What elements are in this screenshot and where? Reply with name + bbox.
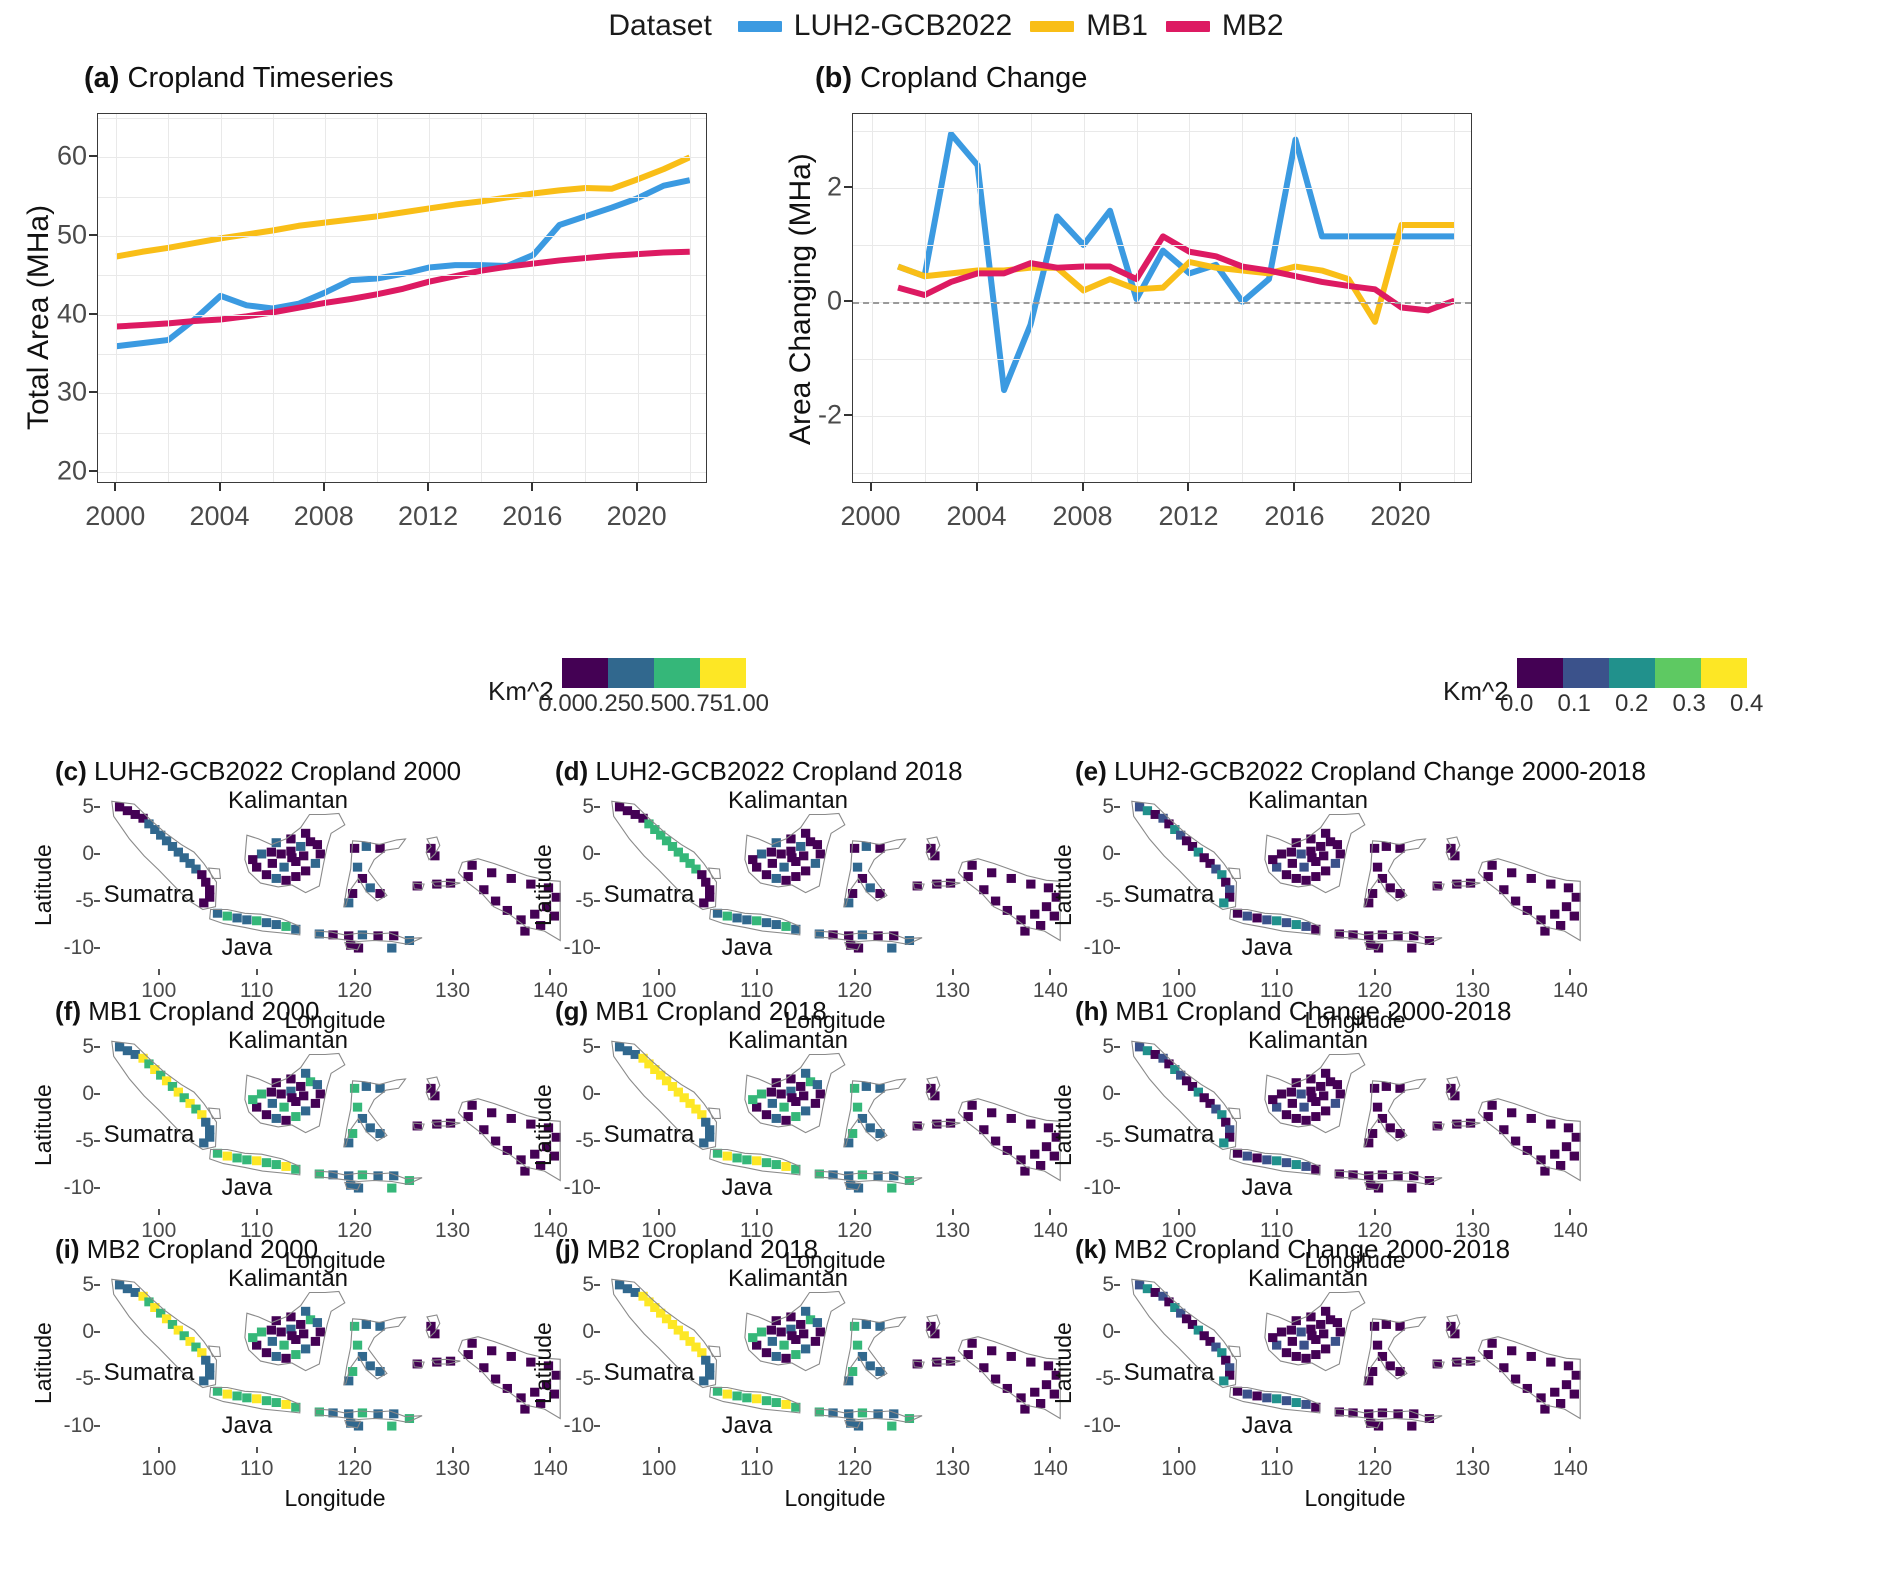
map-raster-cell <box>723 1152 732 1161</box>
map-raster-cell <box>866 883 875 892</box>
map-raster-cell <box>786 834 795 843</box>
map-raster-cell <box>1252 1153 1261 1162</box>
map-raster-cell <box>699 1376 708 1385</box>
map-raster-cell <box>1307 853 1316 862</box>
map-raster-cell <box>987 1108 996 1117</box>
map-raster-cell <box>272 874 281 883</box>
map-raster-cell <box>262 1158 271 1167</box>
map-raster-cell <box>1306 1312 1315 1321</box>
map-raster-cell <box>1321 866 1330 875</box>
map-annotation-sumatra: Sumatra <box>604 881 695 909</box>
map-raster-cell <box>1572 1133 1581 1142</box>
map-raster-cell <box>873 1409 882 1418</box>
map-lon-tick-mark <box>1374 1447 1376 1453</box>
map-raster-cell <box>1301 1354 1310 1363</box>
map-raster-cell <box>1395 1322 1404 1331</box>
map-raster-cell <box>1233 909 1242 918</box>
map-raster-cell <box>1307 1093 1316 1102</box>
map-raster-cell <box>748 855 757 864</box>
map-raster-cell <box>373 931 382 940</box>
map-raster-cell <box>1233 1387 1242 1396</box>
x-axis-tick-mark <box>114 483 116 491</box>
map-raster-cell <box>699 898 708 907</box>
gridline-vertical <box>978 114 979 482</box>
map-raster-cell <box>301 866 310 875</box>
map-raster-cell <box>316 1328 325 1337</box>
map-raster-cell <box>779 1341 788 1350</box>
map-lat-tick-mark <box>1114 806 1120 808</box>
map-raster-cell <box>281 1400 290 1409</box>
map-raster-cell <box>862 1320 871 1329</box>
colorbar-left-ticks: 0.000.250.500.751.00 <box>562 688 746 716</box>
map-lon-tick-label: 130 <box>435 1219 470 1243</box>
map-raster-cell <box>1311 1350 1320 1359</box>
map-lon-tick-label: 100 <box>141 1457 176 1481</box>
map-raster-cell <box>1507 1108 1516 1117</box>
map-raster-cell <box>858 1114 867 1123</box>
map-raster-cell <box>796 1320 805 1329</box>
map-annotation-sumatra: Sumatra <box>104 1359 195 1387</box>
map-lat-tick-mark <box>1114 1140 1120 1142</box>
map-raster-cell <box>873 931 882 940</box>
map-raster-cell <box>257 850 266 859</box>
y-axis-tick-mark <box>89 313 97 315</box>
map-raster-cell <box>1527 874 1536 883</box>
map-raster-cell <box>316 850 325 859</box>
map-lat-tick-label: -5 <box>554 1129 594 1153</box>
map-raster-cell <box>387 1184 396 1193</box>
y-axis-tick-mark <box>844 300 852 302</box>
map-raster-cell <box>1364 931 1373 940</box>
map-raster-cell <box>1370 1084 1379 1093</box>
map-raster-cell <box>811 859 820 868</box>
gridline-horizontal <box>853 359 1471 360</box>
map-raster-cell <box>287 1093 296 1102</box>
colorbar-tick-label: 0.50 <box>630 690 677 718</box>
map-raster-cell <box>1450 1091 1459 1100</box>
panel-b-title: (b) Cropland Change <box>815 62 1087 95</box>
gridline-vertical <box>168 114 169 482</box>
map-raster-cell <box>373 1171 382 1180</box>
gridline-vertical <box>1401 114 1402 482</box>
map-panel-title: (f) MB1 Cropland 2000 <box>55 996 319 1027</box>
map-panel-title-text: LUH2-GCB2022 Cropland 2000 <box>94 756 461 786</box>
map-raster-cell <box>262 870 271 879</box>
map-lon-tick-label: 100 <box>1161 1457 1196 1481</box>
map-lon-tick-mark <box>952 969 954 975</box>
gridline-horizontal <box>98 275 706 276</box>
map-raster-cell <box>1393 1409 1402 1418</box>
x-axis-tick-label: 2004 <box>946 501 1006 532</box>
map-raster-cell <box>1487 1101 1496 1110</box>
map-raster-cell <box>213 909 222 918</box>
map-raster-cell <box>487 868 496 877</box>
map-lon-tick-mark <box>1276 1447 1278 1453</box>
map-raster-cell <box>887 944 896 953</box>
map-lat-tick-label: -10 <box>1074 1414 1114 1438</box>
map-raster-cell <box>1299 1103 1308 1112</box>
map-raster-cell <box>1262 1393 1271 1402</box>
colorbar-band <box>1517 658 1563 688</box>
map-raster-cell <box>1507 1346 1516 1355</box>
map-raster-cell <box>491 1137 500 1146</box>
map-canvas <box>1120 1030 1590 1205</box>
legend-title: Dataset <box>608 9 711 43</box>
map-raster-cell <box>313 1318 322 1327</box>
map-raster-cell <box>276 1090 285 1099</box>
coastline-outline <box>709 1346 721 1356</box>
map-raster-cell <box>813 1080 822 1089</box>
map-lat-tick-label: 0 <box>1074 1082 1114 1106</box>
x-axis-tick-mark <box>1082 483 1084 491</box>
x-axis-tick-mark <box>427 483 429 491</box>
map-lat-tick-label: 5 <box>1074 1035 1114 1059</box>
map-raster-cell <box>272 1160 281 1169</box>
map-lat-tick-label: 0 <box>54 1082 94 1106</box>
map-raster-cell <box>1288 859 1297 868</box>
map-raster-cell <box>1316 1320 1325 1329</box>
map-raster-cell <box>1407 1422 1416 1431</box>
map-raster-cell <box>430 1091 439 1100</box>
map-lat-tick-label: -10 <box>1074 1176 1114 1200</box>
map-raster-cell <box>301 1307 310 1316</box>
map-lat-tick-label: -10 <box>554 936 594 960</box>
coastline-outline <box>209 1108 221 1118</box>
legend-item-mb1[interactable]: MB1 <box>1030 9 1148 43</box>
panel-a-series-layer <box>98 114 708 484</box>
coastline-outline <box>1229 1346 1241 1356</box>
map-raster-cell <box>301 829 310 838</box>
map-raster-cell <box>279 863 288 872</box>
map-ylabel: Latitude <box>30 1084 57 1166</box>
map-raster-cell <box>1288 1337 1297 1346</box>
map-raster-cell <box>1301 1162 1310 1171</box>
x-axis-tick-mark <box>870 483 872 491</box>
series-line-luh2-gcb2022 <box>898 134 1454 390</box>
gridline-horizontal <box>98 197 706 198</box>
legend-item-luh2[interactable]: LUH2-GCB2022 <box>738 9 1012 43</box>
map-raster-cell <box>1393 931 1402 940</box>
map-raster-cell <box>487 1346 496 1355</box>
y-axis-tick-mark <box>89 234 97 236</box>
map-raster-cell <box>1572 1371 1581 1380</box>
map-panel-tag: (e) <box>1075 756 1114 786</box>
map-lon-tick-label: 140 <box>1553 1219 1588 1243</box>
map-annotation-sumatra: Sumatra <box>1124 881 1215 909</box>
colorbar-left-bands <box>562 658 746 688</box>
map-panel-title-text: MB1 Cropland 2000 <box>88 996 319 1026</box>
map-ylabel: Latitude <box>530 1322 557 1404</box>
map-lon-tick-label: 140 <box>1553 979 1588 1003</box>
map-raster-cell <box>801 829 810 838</box>
map-raster-cell <box>991 897 1000 906</box>
map-lon-tick-mark <box>952 1447 954 1453</box>
map-raster-cell <box>1219 898 1228 907</box>
map-raster-cell <box>257 1090 266 1099</box>
gridline-vertical <box>1137 114 1138 482</box>
map-raster-cell <box>1319 1329 1328 1338</box>
map-raster-cell <box>252 1156 261 1165</box>
map-raster-cell <box>375 1084 384 1093</box>
map-raster-cell <box>801 1069 810 1078</box>
map-lat-tick-label: -5 <box>1074 1367 1114 1391</box>
map-raster-cell <box>1336 1328 1345 1337</box>
map-raster-cell <box>487 1108 496 1117</box>
map-raster-cell <box>723 912 732 921</box>
gridline-horizontal <box>98 118 706 119</box>
map-raster-cell <box>862 842 871 851</box>
map-raster-cell <box>850 1084 859 1093</box>
map-raster-cell <box>1386 883 1395 892</box>
map-raster-cell <box>375 844 384 853</box>
map-lat-tick-mark <box>1114 1378 1120 1380</box>
map-ylabel: Latitude <box>530 844 557 926</box>
x-axis-tick-label: 2008 <box>1052 501 1112 532</box>
map-raster-cell <box>742 1155 751 1164</box>
map-raster-cell <box>772 874 781 883</box>
map-panel-title: (j) MB2 Cropland 2018 <box>555 1234 818 1265</box>
x-axis-tick-label: 2000 <box>841 501 901 532</box>
panel-a-title: (a) Cropland Timeseries <box>84 62 393 95</box>
map-raster-cell <box>1487 861 1496 870</box>
map-lat-tick-mark <box>594 947 600 949</box>
gridline-vertical <box>638 114 639 482</box>
map-panel-title: (g) MB1 Cropland 2018 <box>555 996 827 1027</box>
map-raster-cell <box>1319 1091 1328 1100</box>
map-raster-cell <box>1292 874 1301 883</box>
map-raster-cell <box>311 1337 320 1346</box>
colorbar-band <box>654 658 700 688</box>
map-raster-cell <box>268 1099 277 1108</box>
map-raster-cell <box>787 1093 796 1102</box>
map-raster-cell <box>286 834 295 843</box>
map-raster-cell <box>1570 1390 1579 1399</box>
colorbar-band <box>1701 658 1747 688</box>
map-raster-cell <box>1030 910 1039 919</box>
map-lon-tick-label: 110 <box>1260 1457 1293 1481</box>
map-raster-cell <box>242 1393 251 1402</box>
map-raster-cell <box>779 1103 788 1112</box>
gridline-horizontal <box>98 315 706 316</box>
map-raster-cell <box>1562 1142 1571 1151</box>
map-annotation-kalimantan: Kalimantan <box>728 787 848 815</box>
map-panel-title-text: MB2 Cropland 2018 <box>587 1234 818 1264</box>
gridline-vertical <box>429 114 430 482</box>
map-canvas <box>600 1030 1070 1205</box>
map-raster-cell <box>801 1307 810 1316</box>
x-axis-tick-label: 2012 <box>1158 501 1218 532</box>
map-raster-cell <box>301 1069 310 1078</box>
map-raster-cell <box>801 866 810 875</box>
map-lon-tick-label: 130 <box>435 979 470 1003</box>
map-lon-tick-mark <box>658 969 660 975</box>
map-lat-tick-label: 0 <box>1074 842 1114 866</box>
map-raster-cell <box>257 1328 266 1337</box>
map-lat-tick-mark <box>594 1284 600 1286</box>
map-lon-tick-mark <box>158 1447 160 1453</box>
map-raster-cell <box>1370 1322 1379 1331</box>
map-raster-cell <box>1546 880 1555 889</box>
map-raster-cell <box>350 1084 359 1093</box>
map-xlabel: Longitude <box>600 1485 1070 1512</box>
map-raster-cell <box>366 1123 375 1132</box>
map-raster-cell <box>1487 1339 1496 1348</box>
map-lat-tick-mark <box>594 1425 600 1427</box>
map-lon-tick-mark <box>854 1209 856 1215</box>
map-lon-tick-label: 120 <box>337 1457 372 1481</box>
map-raster-cell <box>1316 1082 1325 1091</box>
map-lon-tick-mark <box>549 1209 551 1215</box>
map-raster-cell <box>1036 1399 1045 1408</box>
map-raster-cell <box>732 1153 741 1162</box>
map-lon-tick-label: 130 <box>1455 1457 1490 1481</box>
map-raster-cell <box>1301 922 1310 931</box>
map-raster-cell <box>757 850 766 859</box>
map-raster-cell <box>232 1153 241 1162</box>
map-raster-cell <box>862 1082 871 1091</box>
gridline-vertical <box>925 114 926 482</box>
map-annotation-java: Java <box>722 1412 773 1440</box>
map-lon-tick-mark <box>952 1209 954 1215</box>
map-raster-cell <box>316 1090 325 1099</box>
panel-a-title-text: Cropland Timeseries <box>128 62 394 94</box>
gridline-vertical <box>221 114 222 482</box>
map-raster-cell <box>781 922 790 931</box>
y-axis-tick-label: 50 <box>35 220 87 251</box>
map-raster-cell <box>779 863 788 872</box>
map-raster-cell <box>1321 1307 1330 1316</box>
map-raster-cell <box>1450 1329 1459 1338</box>
map-raster-cell <box>772 1160 781 1169</box>
gridline-vertical <box>1454 114 1455 482</box>
map-lat-tick-mark <box>94 1140 100 1142</box>
map-raster-cell <box>1299 863 1308 872</box>
map-panel-h: 50-5-10100110120130140LatitudeLongitudeK… <box>1120 1030 1590 1205</box>
map-raster-cell <box>1282 918 1291 927</box>
map-lat-tick-mark <box>1114 1425 1120 1427</box>
map-raster-cell <box>1287 848 1296 857</box>
map-lat-tick-label: -5 <box>1074 1129 1114 1153</box>
map-raster-cell <box>311 859 320 868</box>
map-raster-cell <box>1546 1120 1555 1129</box>
x-axis-tick-mark <box>1399 483 1401 491</box>
map-lon-tick-mark <box>1049 969 1051 975</box>
map-raster-cell <box>844 1171 853 1180</box>
map-raster-cell <box>281 876 290 885</box>
y-axis-tick-label: -2 <box>790 399 842 430</box>
map-raster-cell <box>1511 1375 1520 1384</box>
map-lon-tick-mark <box>158 1209 160 1215</box>
colorbar-band <box>1655 658 1701 688</box>
map-raster-cell <box>1299 1341 1308 1350</box>
map-raster-cell <box>875 844 884 853</box>
map-lon-tick-mark <box>1569 1447 1571 1453</box>
colorbar-tick-label: 0.75 <box>676 690 723 718</box>
map-raster-cell <box>272 920 281 929</box>
y-axis-tick-label: 40 <box>35 298 87 329</box>
map-raster-cell <box>1292 1160 1301 1169</box>
gridline-horizontal <box>98 433 706 434</box>
map-raster-cell <box>375 1322 384 1331</box>
x-axis-tick-label: 2020 <box>1370 501 1430 532</box>
map-lat-tick-mark <box>94 853 100 855</box>
map-raster-cell <box>811 1337 820 1346</box>
map-raster-cell <box>1373 863 1382 872</box>
map-raster-cell <box>1511 897 1520 906</box>
colorbar-right-ticks: 0.00.10.20.30.4 <box>1517 688 1747 716</box>
map-lat-tick-label: -10 <box>554 1414 594 1438</box>
map-lon-tick-label: 130 <box>935 1457 970 1481</box>
map-raster-cell <box>291 1112 300 1121</box>
map-lon-tick-mark <box>256 1209 258 1215</box>
map-raster-cell <box>1030 1388 1039 1397</box>
map-lat-tick-label: -5 <box>54 1129 94 1153</box>
gridline-vertical <box>273 114 274 482</box>
map-raster-cell <box>1333 840 1342 849</box>
map-raster-cell <box>1007 1114 1016 1123</box>
map-lat-tick-label: -5 <box>1074 889 1114 913</box>
map-lon-tick-label: 120 <box>837 979 872 1003</box>
map-panel-j: 50-5-10100110120130140LatitudeLongitudeK… <box>600 1268 1070 1443</box>
map-raster-cell <box>1026 880 1035 889</box>
gridline-horizontal <box>98 236 706 237</box>
map-raster-cell <box>223 1152 232 1161</box>
map-raster-cell <box>286 1312 295 1321</box>
map-raster-cell <box>267 1088 276 1097</box>
map-raster-cell <box>286 1074 295 1083</box>
map-lat-tick-label: 5 <box>54 1273 94 1297</box>
map-raster-cell <box>1564 883 1573 892</box>
map-raster-cell <box>507 1352 516 1361</box>
map-lat-tick-mark <box>1114 853 1120 855</box>
map-raster-cell <box>1219 1138 1228 1147</box>
map-raster-cell <box>844 931 853 940</box>
map-raster-cell <box>813 1318 822 1327</box>
map-raster-cell <box>1026 1120 1035 1129</box>
map-raster-cell <box>858 874 867 883</box>
map-lat-tick-label: 5 <box>554 795 594 819</box>
map-lat-tick-label: -5 <box>54 889 94 913</box>
map-raster-cell <box>1546 1358 1555 1367</box>
map-raster-cell <box>299 1329 308 1338</box>
map-raster-cell <box>1336 850 1345 859</box>
map-raster-cell <box>1527 1352 1536 1361</box>
map-raster-cell <box>1301 1400 1310 1409</box>
map-raster-cell <box>853 863 862 872</box>
map-raster-cell <box>252 916 261 925</box>
map-raster-cell <box>213 1387 222 1396</box>
map-raster-cell <box>291 872 300 881</box>
map-panel-title: (d) LUH2-GCB2022 Cropland 2018 <box>555 756 963 787</box>
map-raster-cell <box>1252 913 1261 922</box>
map-raster-cell <box>223 1390 232 1399</box>
map-raster-cell <box>991 1375 1000 1384</box>
map-raster-cell <box>467 861 476 870</box>
legend-item-mb2[interactable]: MB2 <box>1166 9 1284 43</box>
map-raster-cell <box>858 1352 867 1361</box>
map-panel-title-text: MB1 Cropland 2018 <box>595 996 826 1026</box>
map-raster-cell <box>1301 876 1310 885</box>
y-axis-tick-label: 0 <box>790 285 842 316</box>
map-raster-cell <box>991 1137 1000 1146</box>
colorbar-band <box>1609 658 1655 688</box>
map-raster-cell <box>732 1391 741 1400</box>
map-raster-cell <box>507 1114 516 1123</box>
gridline-vertical <box>872 114 873 482</box>
map-lat-tick-label: 5 <box>54 1035 94 1059</box>
y-axis-tick-label: 20 <box>35 456 87 487</box>
map-raster-cell <box>1319 851 1328 860</box>
